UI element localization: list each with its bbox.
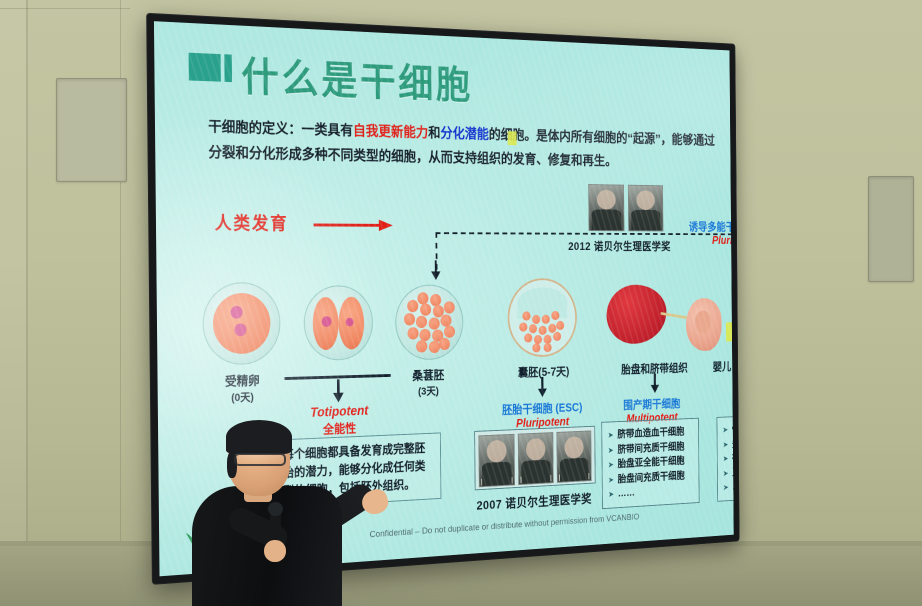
perinatal-stem-cell-list: 脐带血造血干细胞脐带间充质干细胞胎盘亚全能干细胞胎盘间充质干细胞…… xyxy=(601,418,699,509)
stage-label-infant: 婴儿 xyxy=(704,357,734,375)
cell-morula xyxy=(395,284,464,360)
microphone-head xyxy=(268,502,283,516)
stage-name: 婴儿 xyxy=(713,361,731,374)
nobel-2007-photo-box xyxy=(474,426,595,491)
stage-label-zygote: 受精卵 (0天) xyxy=(199,369,284,406)
presenter-hair xyxy=(226,420,292,454)
stage-sub: (0天) xyxy=(200,388,285,406)
list-item: 骨髓造血干细胞 xyxy=(722,419,733,437)
stage-name: 受精卵 xyxy=(225,374,260,389)
stage-label-morula: 桑葚胚 (3天) xyxy=(391,364,466,399)
portrait-photo xyxy=(518,432,554,485)
arrow-down-perinatal-icon xyxy=(650,373,659,393)
potency-totipotent: Totipotent 全能性 xyxy=(294,403,385,439)
presenter-glasses xyxy=(234,453,286,466)
reprogramming-dashed-line xyxy=(435,232,733,235)
nobel-2007-caption: 2007 诺贝尔生理医学奖 xyxy=(476,489,591,513)
slide-title: 什么是干细胞 xyxy=(241,43,473,110)
portrait-photo xyxy=(588,184,624,231)
potency-en: Totipotent xyxy=(310,403,368,420)
potency-cn: 诱导多能干细胞 (iPSC) xyxy=(689,221,734,234)
potency-cn: 围产期干细胞 xyxy=(623,397,680,412)
stage-name: 桑葚胚 xyxy=(412,369,444,383)
potency-ipsc: 诱导多能干细胞 (iPSC) Pluripotent xyxy=(681,217,734,246)
screen-artifact-yellow-right xyxy=(726,322,734,341)
arrow-down-blastocyst-icon xyxy=(431,260,441,281)
definition-paragraph: 干细胞的定义：一类具有自我更新能力和分化潜能的细胞。是体内所有细胞的“起源”，能… xyxy=(208,115,716,176)
portrait-photo xyxy=(628,185,664,232)
portrait-photo xyxy=(478,434,515,487)
portrait-photo xyxy=(556,430,591,482)
arrow-down-totipotent-icon xyxy=(333,379,344,402)
cell-blastocyst xyxy=(507,278,577,358)
potency-en: Pluripotent xyxy=(681,234,734,246)
development-arrow-icon xyxy=(314,218,393,232)
confidential-footer: Confidential – Do not duplicate or distr… xyxy=(370,512,640,540)
nobel-2012-caption: 2012 诺贝尔生理医学奖 xyxy=(568,238,671,253)
cell-two-cell xyxy=(303,285,373,361)
placenta-and-cord-illustration xyxy=(606,279,728,363)
screen-artifact-yellow-top xyxy=(508,131,517,145)
title-accent-bar xyxy=(189,53,221,82)
definition-part1: 一类具有 xyxy=(301,122,353,139)
human-development-label: 人类发育 xyxy=(215,210,289,236)
definition-highlight-blue: 分化潜能 xyxy=(440,126,488,142)
presenter-mic-hand xyxy=(264,540,286,562)
definition-lead: 干细胞的定义： xyxy=(208,120,301,138)
title-accent-bar-small xyxy=(224,54,232,82)
definition-mid: 和 xyxy=(428,126,440,141)
adult-stem-cell-list: 骨髓造血干细胞多种间充质干细胞神经干细胞牙源干细胞…… xyxy=(717,413,734,501)
definition-highlight-red: 自我更新能力 xyxy=(353,124,428,141)
cell-zygote xyxy=(202,282,280,366)
nobel-2012-photo-box xyxy=(588,184,667,235)
presenter-person xyxy=(186,436,386,606)
potency-cn: 胚胎干细胞 (ESC) xyxy=(502,401,582,417)
stage-sub: (3天) xyxy=(391,382,466,399)
arrow-down-esc-icon xyxy=(537,377,547,397)
